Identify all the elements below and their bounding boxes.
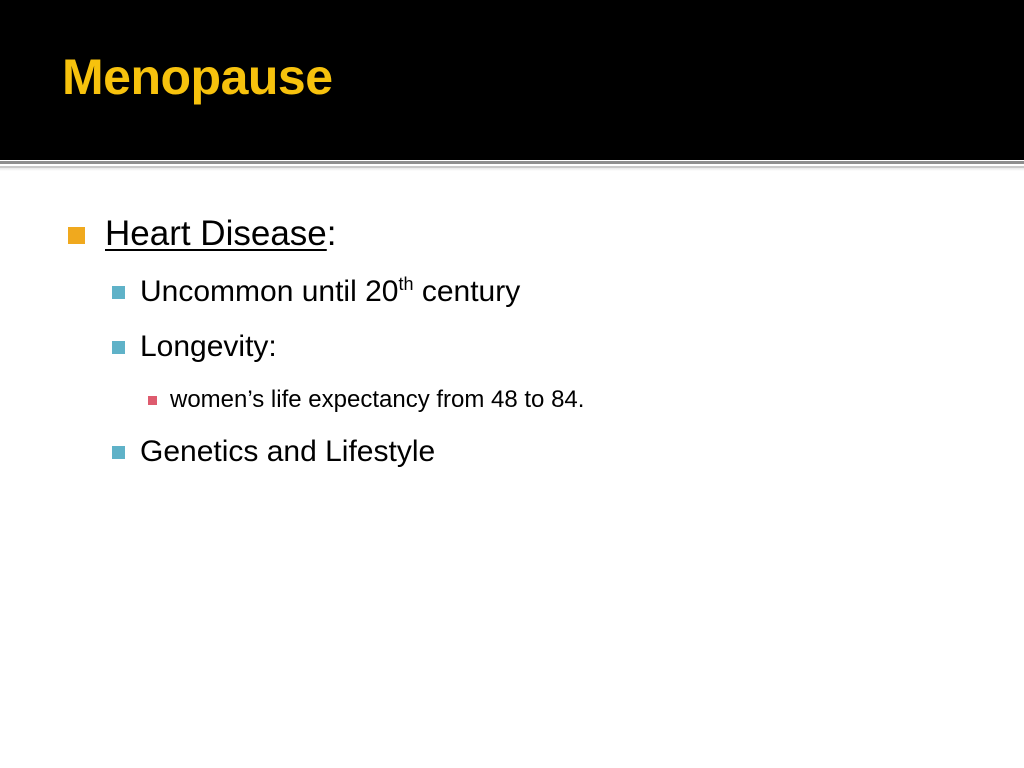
list-item-label: Longevity: [140, 329, 277, 365]
page-title: Menopause [62, 52, 333, 102]
content-body: Heart Disease: Uncommon until 20th centu… [0, 175, 1024, 765]
list-item-label: Heart Disease: [105, 213, 337, 255]
list-item-label-suffix: : [327, 214, 337, 253]
list-item-label: women’s life expectancy from 48 to 84. [170, 385, 584, 415]
list-item-label-underlined: Heart Disease [105, 214, 327, 253]
list-item-genetics-and-lifestyle: Genetics and Lifestyle [112, 434, 1024, 470]
list-item-label: Uncommon until 20th century [140, 274, 520, 310]
slide: Menopause Heart Disease: Uncommon until … [0, 0, 1024, 768]
list-item-uncommon-until-20th-century: Uncommon until 20th century [112, 274, 1024, 310]
list-item-life-expectancy: women’s life expectancy from 48 to 84. [148, 385, 1024, 415]
square-bullet-icon [112, 341, 125, 354]
list-item-heart-disease: Heart Disease: [68, 213, 1024, 255]
header-divider-shadow [0, 168, 1024, 171]
square-bullet-icon [68, 227, 85, 244]
list-item-longevity: Longevity: [112, 329, 1024, 365]
superscript-ordinal: th [398, 274, 413, 294]
square-bullet-icon [148, 396, 157, 405]
square-bullet-icon [112, 286, 125, 299]
header-divider-dark [0, 161, 1024, 164]
list-item-label-suffix: century [413, 275, 520, 308]
list-item-label: Genetics and Lifestyle [140, 434, 435, 470]
square-bullet-icon [112, 446, 125, 459]
list-item-label-prefix: Uncommon until 20 [140, 275, 398, 308]
